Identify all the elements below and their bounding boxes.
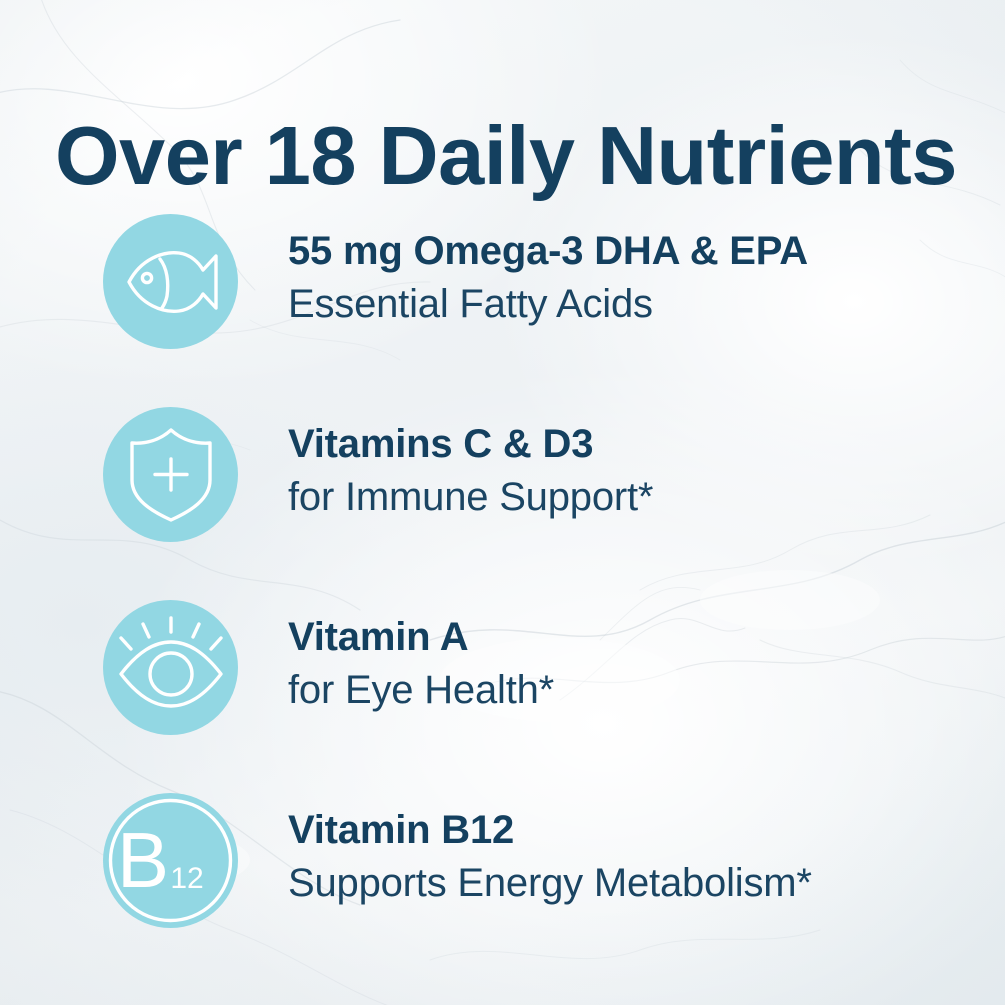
list-item: 55 mg Omega-3 DHA & EPA Essential Fatty … <box>0 205 1005 398</box>
fish-icon-badge <box>103 214 238 349</box>
page-title: Over 18 Daily Nutrients <box>55 108 955 204</box>
b12-letter: B <box>117 816 169 904</box>
benefit-text: Vitamins C & D3 for Immune Support* <box>288 418 988 524</box>
list-item: B 12 Vitamin B12 Supports Energy Metabol… <box>0 784 1005 977</box>
eye-icon-badge <box>103 600 238 735</box>
shield-plus-icon <box>115 419 227 531</box>
list-item: Vitamins C & D3 for Immune Support* <box>0 398 1005 591</box>
benefit-text: Vitamin A for Eye Health* <box>288 611 988 717</box>
b12-subscript: 12 <box>170 862 203 895</box>
benefits-list: 55 mg Omega-3 DHA & EPA Essential Fatty … <box>0 205 1005 977</box>
benefit-title: 55 mg Omega-3 DHA & EPA <box>288 225 988 278</box>
benefit-subtitle: Supports Energy Metabolism* <box>288 857 988 910</box>
benefit-subtitle: for Immune Support* <box>288 471 988 524</box>
benefit-subtitle: Essential Fatty Acids <box>288 278 988 331</box>
eye-icon <box>113 610 229 726</box>
benefit-text: 55 mg Omega-3 DHA & EPA Essential Fatty … <box>288 225 988 331</box>
b12-icon: B 12 <box>103 793 238 928</box>
nutrients-infographic: Over 18 Daily Nutrients 55 mg Omega-3 DH… <box>0 0 1005 1005</box>
b12-icon-badge: B 12 <box>103 793 238 928</box>
benefit-subtitle: for Eye Health* <box>288 664 988 717</box>
shield-plus-icon-badge <box>103 407 238 542</box>
benefit-title: Vitamin B12 <box>288 804 988 857</box>
benefit-title: Vitamin A <box>288 611 988 664</box>
benefit-text: Vitamin B12 Supports Energy Metabolism* <box>288 804 988 910</box>
list-item: Vitamin A for Eye Health* <box>0 591 1005 784</box>
benefit-title: Vitamins C & D3 <box>288 418 988 471</box>
fish-icon <box>115 226 227 338</box>
